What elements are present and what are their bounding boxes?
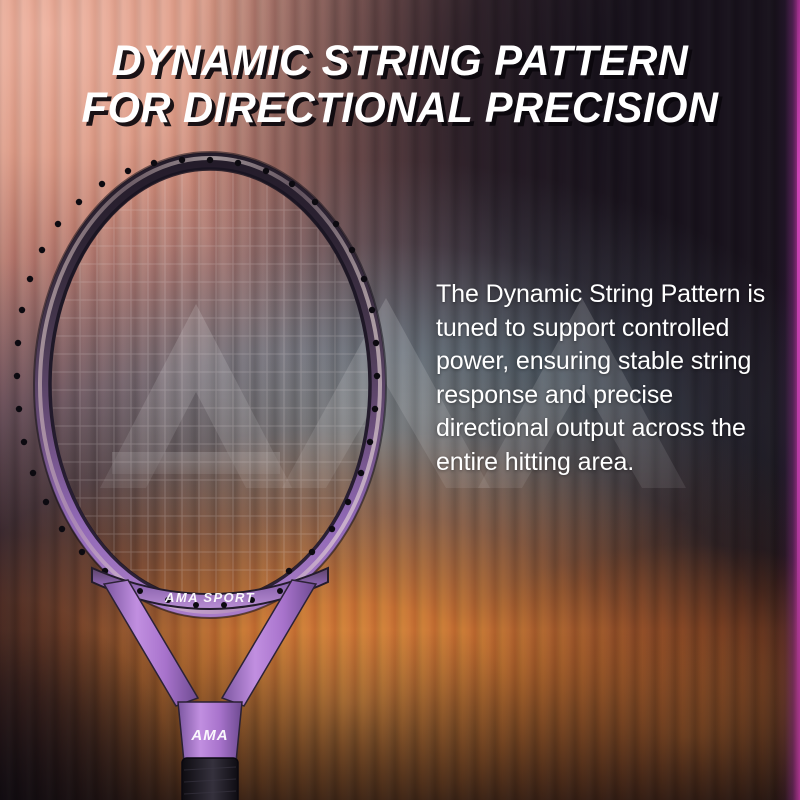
headline-line-1: DYNAMIC STRING PATTERN bbox=[35, 38, 764, 85]
headline: DYNAMIC STRING PATTERN FOR DIRECTIONAL P… bbox=[0, 38, 800, 132]
body-paragraph: The Dynamic String Pattern is tuned to s… bbox=[436, 278, 772, 479]
promo-banner: AMA SPORT AMA DYNAMIC STRING PATTERN FOR… bbox=[0, 0, 800, 800]
headline-line-2: FOR DIRECTIONAL PRECISION bbox=[35, 85, 764, 132]
